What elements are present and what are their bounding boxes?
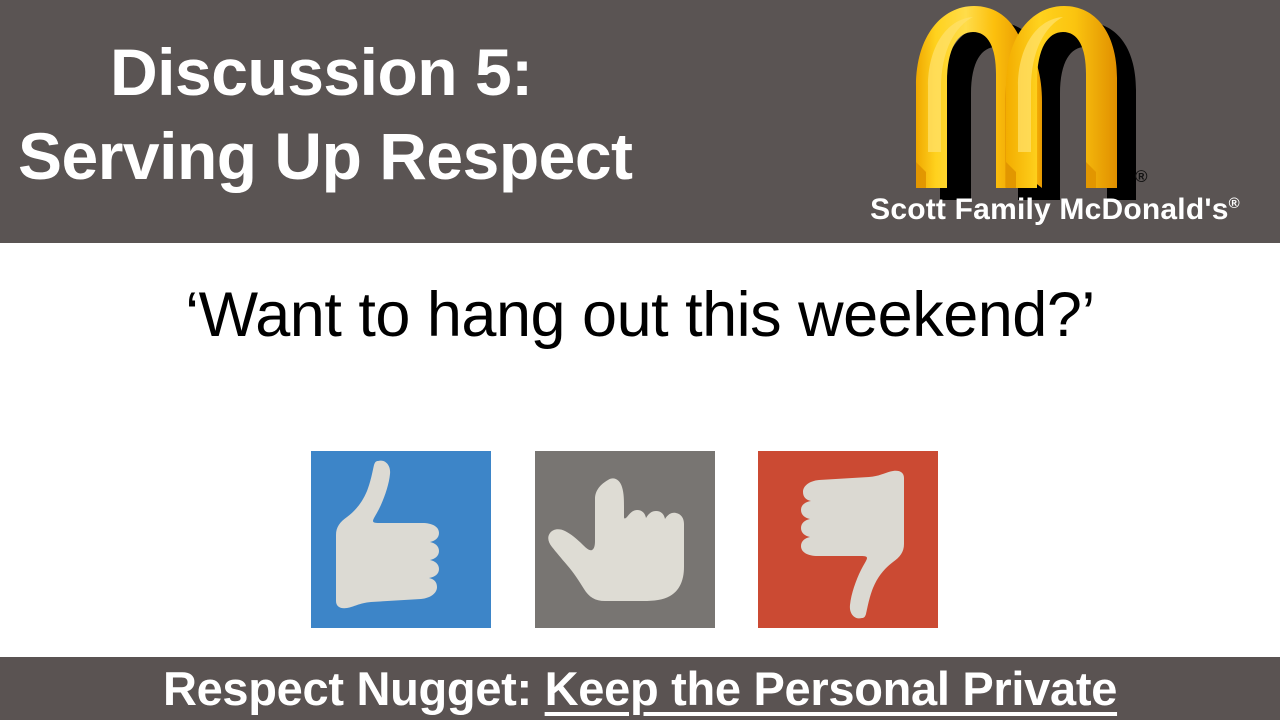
respect-nugget-banner: Respect Nugget: Keep the Personal Privat…	[0, 662, 1280, 716]
respect-nugget-highlight: Keep the Personal Private	[545, 662, 1117, 715]
page-title-line-1: Discussion 5:	[0, 30, 700, 114]
footer-bar: Respect Nugget: Keep the Personal Privat…	[0, 657, 1280, 720]
reaction-card-thumbs-up[interactable]	[311, 451, 491, 628]
thumbs-sideways-icon	[535, 451, 715, 628]
reaction-card-thumbs-sideways[interactable]	[535, 451, 715, 628]
page-title-line-2: Serving Up Respect	[0, 114, 700, 198]
header-bar: Discussion 5: Serving Up Respect	[0, 0, 1280, 243]
slide-canvas: Discussion 5: Serving Up Respect	[0, 0, 1280, 720]
brand-wordmark-reg-icon: ®	[1229, 195, 1240, 212]
page-title: Discussion 5: Serving Up Respect	[0, 30, 700, 198]
golden-arches-icon	[908, 2, 1158, 200]
reaction-card-thumbs-down[interactable]	[758, 451, 938, 628]
brand-wordmark-text: Scott Family McDonald's	[870, 193, 1228, 226]
respect-nugget-prefix: Respect Nugget:	[163, 662, 545, 715]
discussion-quote: ‘Want to hang out this weekend?’	[0, 277, 1280, 353]
thumbs-down-icon	[758, 451, 938, 628]
brand-wordmark: Scott Family McDonald's®	[830, 193, 1280, 227]
reaction-card-row	[311, 451, 939, 628]
registered-trademark-icon: ®	[1135, 168, 1148, 185]
brand-logo: ® Scott Family McDonald's®	[830, 0, 1280, 240]
thumbs-up-icon	[311, 451, 491, 628]
